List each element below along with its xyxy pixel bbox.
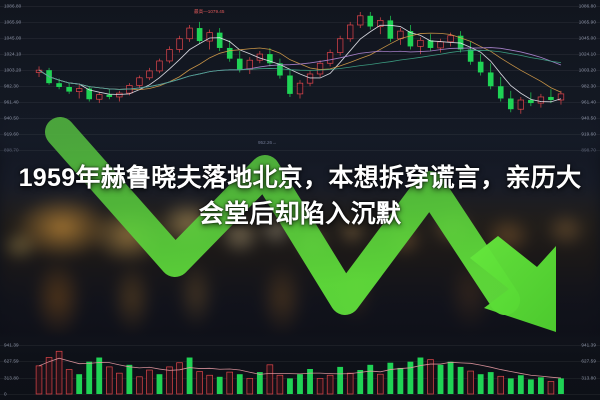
- headline-title: 1959年赫鲁晓夫落地北京，本想拆穿谎言，亲历大会堂后却陷入沉默: [0, 160, 600, 233]
- screenshot-stage: 1086.801065.901045.001024.101003.20982.3…: [0, 0, 600, 400]
